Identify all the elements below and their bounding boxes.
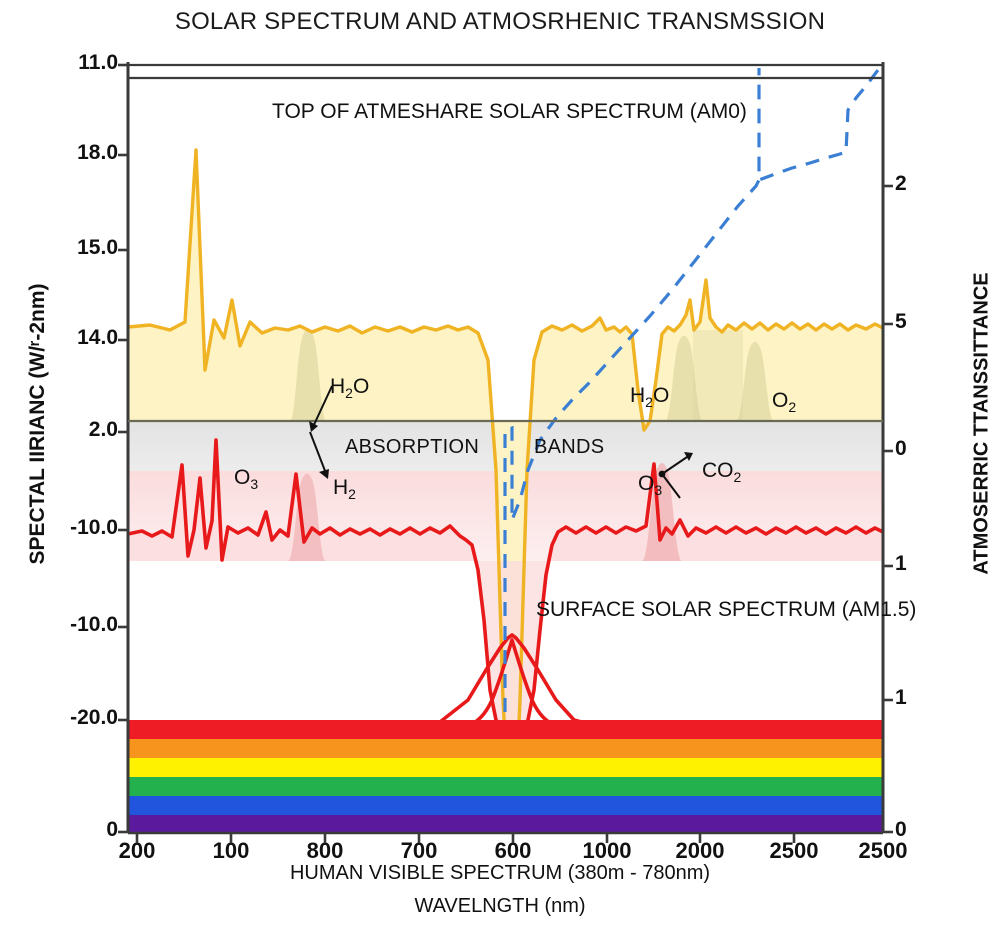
rainbow-bar — [128, 720, 883, 832]
species-label-o3-right: O3 — [638, 472, 662, 498]
rainbow-band-yellow — [128, 758, 883, 777]
annotation-am0: TOP OF ATMESHARE SOLAR SPECTRUM (AM0) — [272, 100, 747, 124]
species-label-co2: CO2 — [702, 459, 741, 485]
rainbow-band-red — [128, 720, 883, 739]
h2o-wide-band — [693, 330, 743, 421]
rainbow-band-orange — [128, 739, 883, 758]
species-label-h2: H2 — [333, 476, 356, 502]
rainbow-band-blue — [128, 796, 883, 815]
rainbow-band-green — [128, 777, 883, 796]
species-label-o2: O2 — [772, 389, 796, 415]
annotation-am15: SURFACE SOLAR SPECTRUM (AM1.5) — [536, 598, 916, 622]
rainbow-band-violet — [128, 815, 883, 832]
bands-label: BANDS — [534, 436, 604, 459]
species-label-h2o-right: H2O — [630, 384, 669, 410]
solar-spectrum-chart: SOLAR SPECTRUM AND ATMOSRHENIC TRANSMSSI… — [0, 0, 1000, 929]
species-label-o3-left: O3 — [234, 466, 258, 492]
absorption-label: ABSORPTION — [345, 436, 479, 459]
plot-canvas — [0, 0, 1000, 929]
species-label-h2o-left: H2O — [330, 375, 369, 401]
